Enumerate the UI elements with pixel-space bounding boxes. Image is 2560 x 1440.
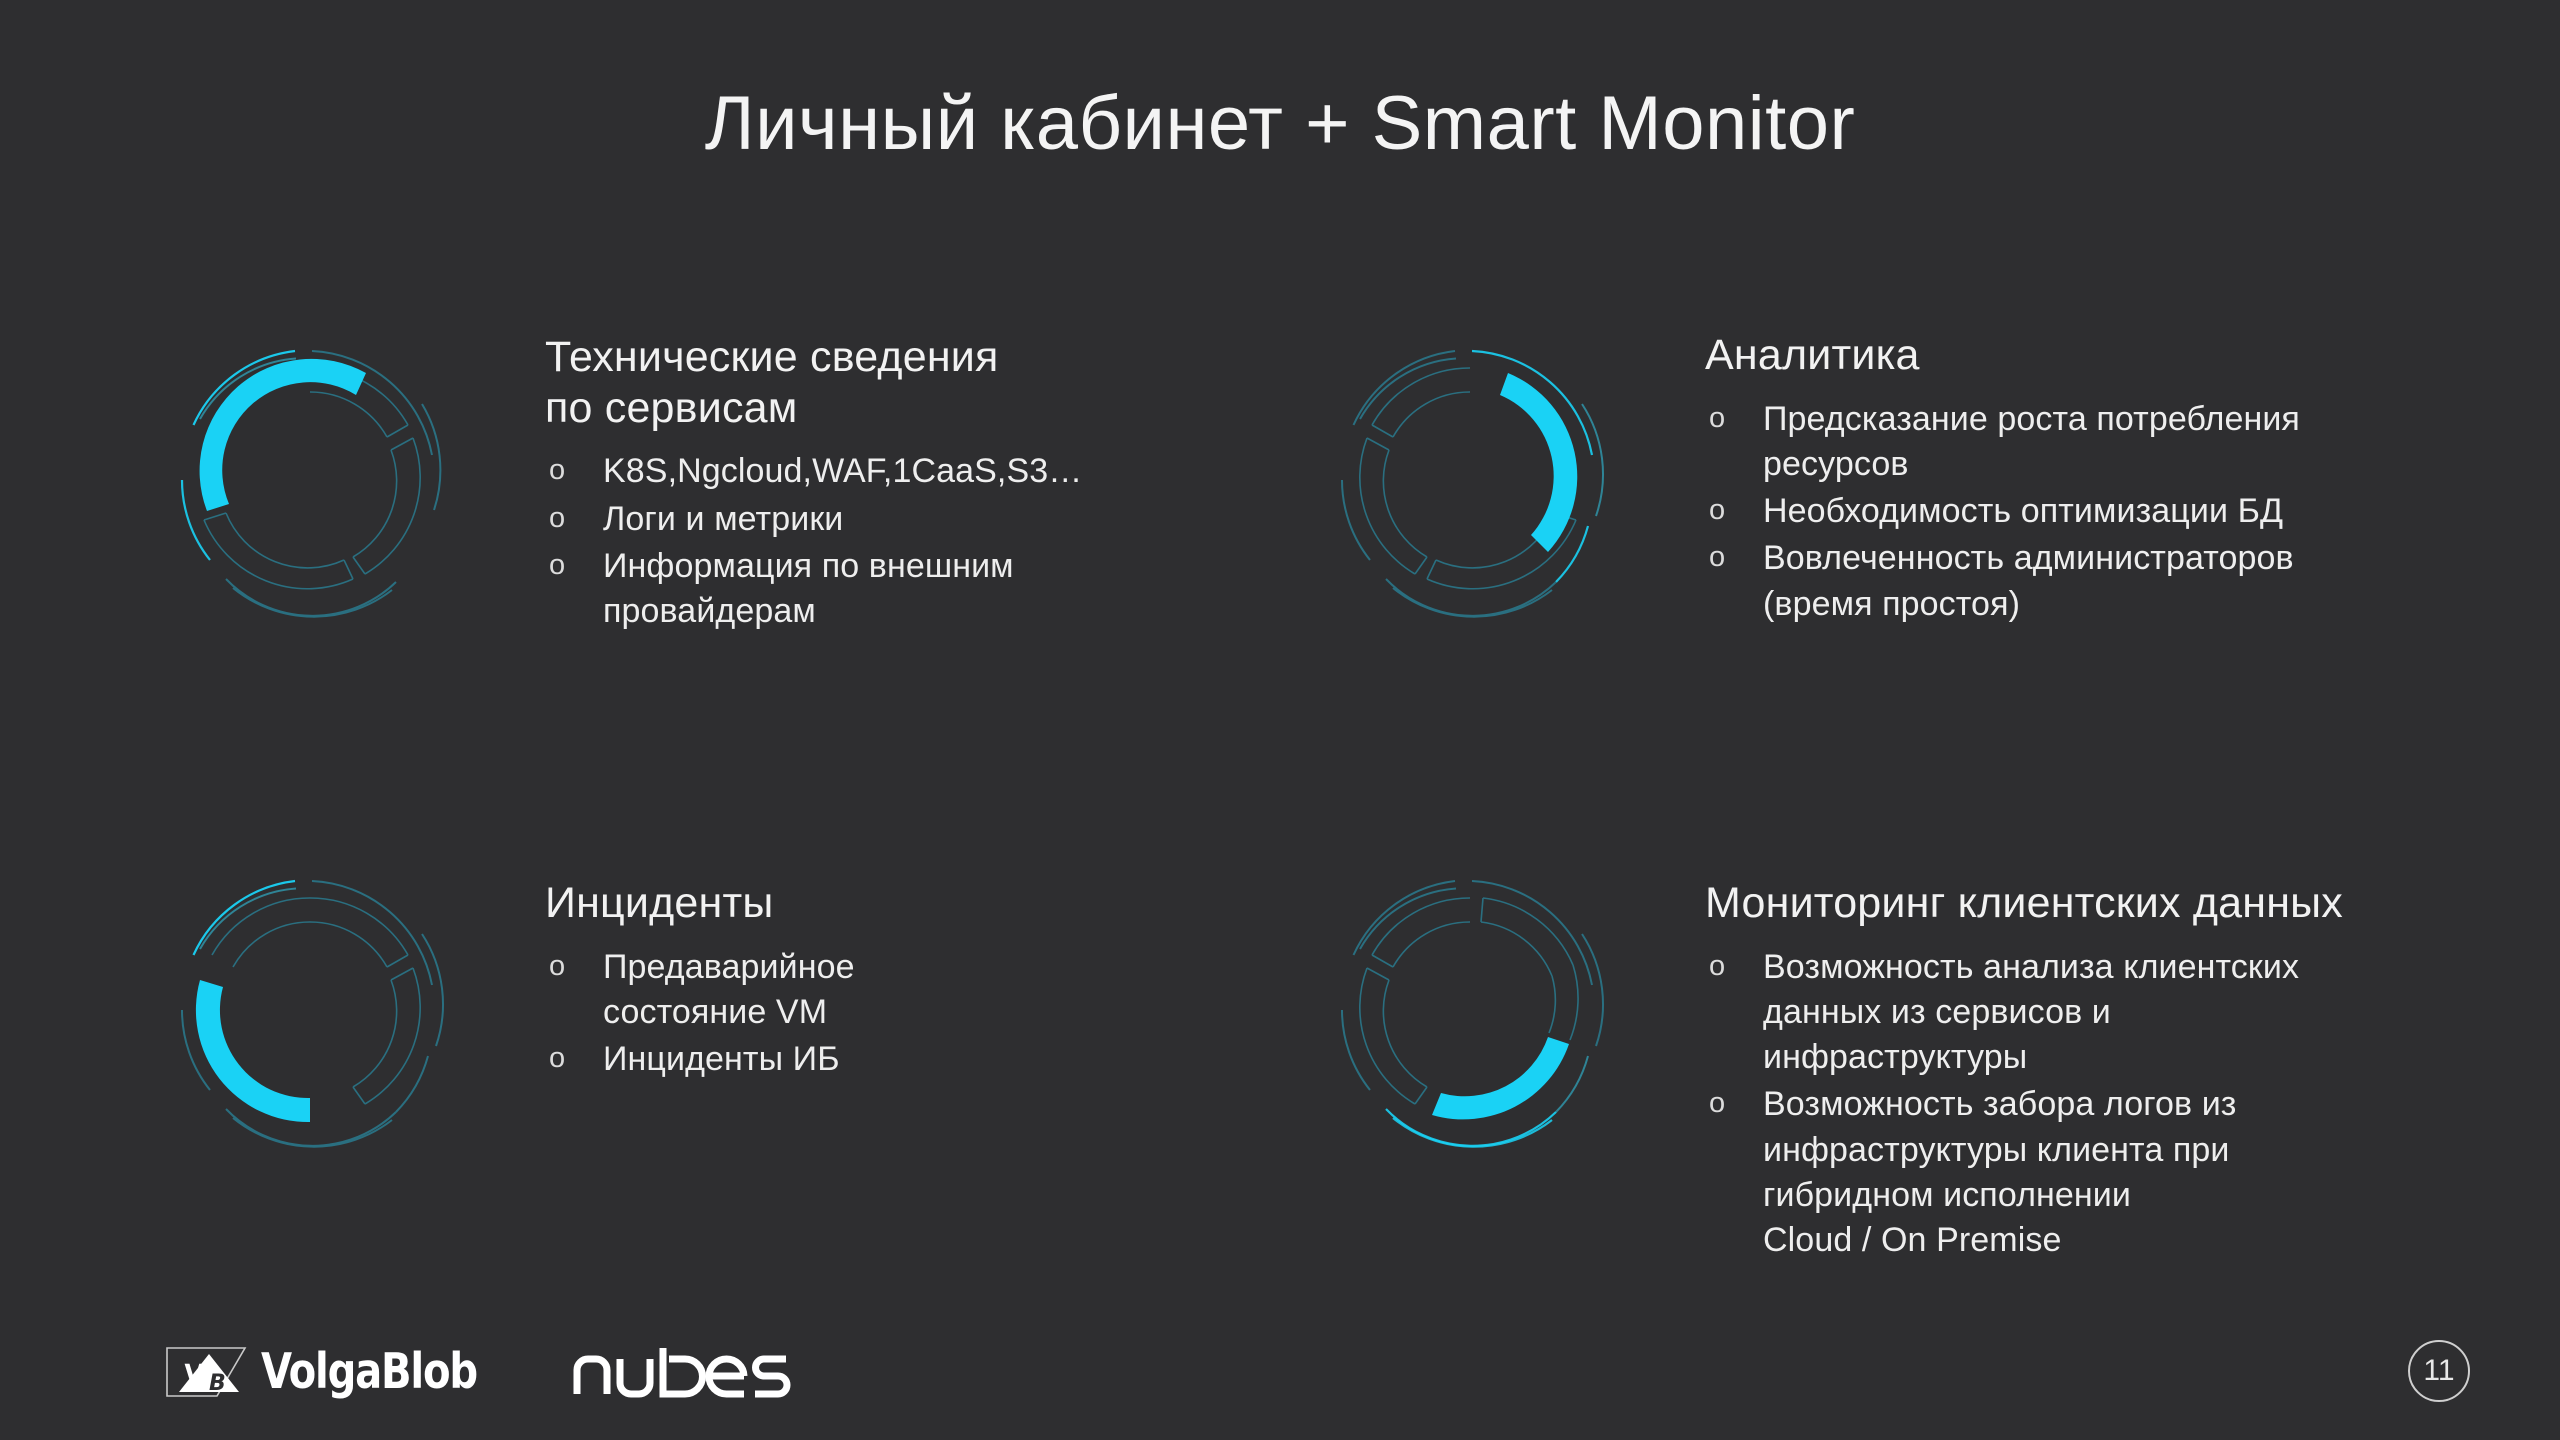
volgablob-logo-text: VolgaBlob bbox=[261, 1343, 477, 1400]
progress-ring-analytics bbox=[1320, 330, 1620, 630]
bullet-marker-icon: o bbox=[549, 945, 565, 989]
list-item-text: Предсказание роста потребления ресурсов bbox=[1763, 400, 2300, 483]
list-item-text: Логи и метрики bbox=[603, 500, 843, 538]
list-item: oНеобходимость оптимизации БД bbox=[1705, 489, 2445, 534]
bullet-marker-icon: o bbox=[1709, 536, 1725, 580]
slide-footer: V B VolgaBlob bbox=[0, 1290, 2560, 1440]
page-number-badge: 11 bbox=[2408, 1340, 2470, 1402]
block-clientdata-body: Мониторинг клиентских данных oВозможност… bbox=[1705, 878, 2505, 1265]
bullet-marker-icon: o bbox=[549, 449, 565, 493]
list-item-text: Информация по внешним провайдерам bbox=[603, 547, 1014, 630]
block-analytics-heading: Аналитика bbox=[1705, 330, 2445, 381]
slide-title: Личный кабинет + Smart Monitor bbox=[0, 82, 2560, 166]
block-tech-bullets: oK8S,Ngcloud,WAF,1CaaS,S3… oЛоги и метри… bbox=[545, 449, 1215, 634]
block-clientdata-bullets: oВозможность анализа клиентских данных и… bbox=[1705, 945, 2505, 1264]
bullet-marker-icon: o bbox=[1709, 945, 1725, 989]
bullet-marker-icon: o bbox=[1709, 397, 1725, 441]
list-item: oПредаварийное состояние VM bbox=[545, 945, 1165, 1035]
list-item: oИнциденты ИБ bbox=[545, 1037, 1165, 1082]
nubes-logo bbox=[572, 1344, 792, 1400]
list-item-text: Предаварийное состояние VM bbox=[603, 948, 855, 1031]
svg-text:V: V bbox=[185, 1357, 205, 1393]
bullet-marker-icon: o bbox=[549, 1037, 565, 1081]
block-analytics-body: Аналитика oПредсказание роста потреблени… bbox=[1705, 330, 2445, 629]
block-incidents-bullets: oПредаварийное состояние VM oИнциденты И… bbox=[545, 945, 1165, 1083]
bullet-marker-icon: o bbox=[549, 497, 565, 541]
list-item: oВозможность анализа клиентских данных и… bbox=[1705, 945, 2505, 1081]
list-item-text: Вовлеченность администраторов (время про… bbox=[1763, 539, 2294, 622]
block-incidents-body: Инциденты oПредаварийное состояние VM oИ… bbox=[545, 878, 1165, 1084]
list-item: oЛоги и метрики bbox=[545, 497, 1215, 542]
list-item: oВовлеченность администраторов (время пр… bbox=[1705, 536, 2445, 626]
progress-ring-tech bbox=[160, 330, 460, 630]
page-number-text: 11 bbox=[2423, 1354, 2454, 1388]
block-incidents-heading: Инциденты bbox=[545, 878, 1165, 929]
slide-canvas: Личный кабинет + Smart Monitor bbox=[0, 0, 2560, 1440]
list-item-text: K8S,Ngcloud,WAF,1CaaS,S3… bbox=[603, 452, 1082, 490]
progress-ring-incidents bbox=[160, 860, 460, 1160]
volgablob-mark-icon: V B bbox=[165, 1344, 247, 1400]
footer-logos: V B VolgaBlob bbox=[165, 1343, 792, 1400]
block-analytics-bullets: oПредсказание роста потребления ресурсов… bbox=[1705, 397, 2445, 627]
bullet-marker-icon: o bbox=[1709, 489, 1725, 533]
list-item: oПредсказание роста потребления ресурсов bbox=[1705, 397, 2445, 487]
list-item: oВозможность забора логов из инфраструкт… bbox=[1705, 1082, 2505, 1263]
svg-text:B: B bbox=[209, 1371, 226, 1396]
list-item-text: Возможность анализа клиентских данных из… bbox=[1763, 948, 2299, 1076]
list-item-text: Необходимость оптимизации БД bbox=[1763, 492, 2283, 530]
list-item-text: Возможность забора логов из инфраструкту… bbox=[1763, 1085, 2237, 1259]
block-tech-heading: Технические сведения по сервисам bbox=[545, 332, 1215, 433]
progress-ring-clientdata bbox=[1320, 860, 1620, 1160]
bullet-marker-icon: o bbox=[549, 544, 565, 588]
volgablob-logo: V B VolgaBlob bbox=[165, 1343, 524, 1400]
bullet-marker-icon: o bbox=[1709, 1082, 1725, 1126]
list-item: oK8S,Ngcloud,WAF,1CaaS,S3… bbox=[545, 449, 1215, 494]
list-item-text: Инциденты ИБ bbox=[603, 1040, 840, 1078]
block-tech-body: Технические сведения по сервисам oK8S,Ng… bbox=[545, 332, 1215, 636]
list-item: oИнформация по внешним провайдерам bbox=[545, 544, 1215, 634]
block-clientdata-heading: Мониторинг клиентских данных bbox=[1705, 878, 2505, 929]
